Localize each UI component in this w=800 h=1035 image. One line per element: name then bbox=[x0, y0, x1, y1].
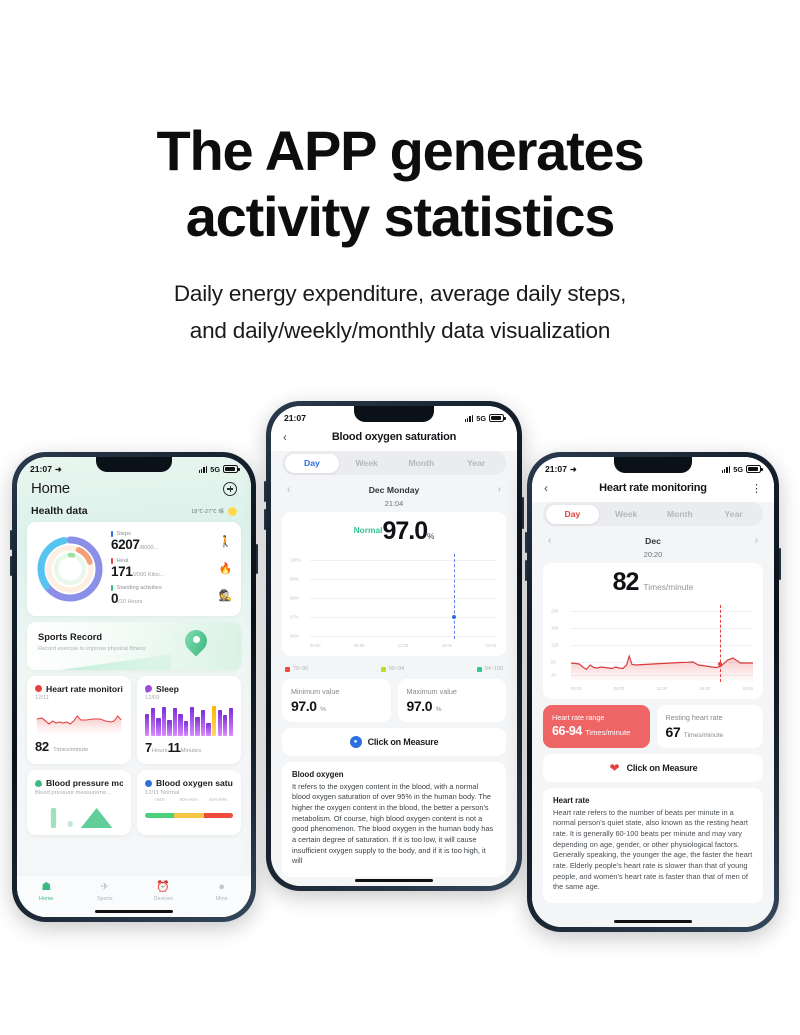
signal-bars-icon-2 bbox=[465, 415, 474, 422]
phone-mockup-home: 21:07 ➜ 5G Home Health data bbox=[12, 452, 256, 922]
network-label-2: 5G bbox=[476, 414, 486, 423]
notch-3 bbox=[614, 457, 692, 473]
hr-resting-unit: Times/minute bbox=[684, 732, 723, 739]
hr-next-date-button[interactable]: › bbox=[755, 535, 758, 546]
metric-standing: Standing activities 0/10 Hours 🕵 bbox=[111, 585, 233, 607]
metric-heat: Heat 171/2000 Kiloc... 🔥 bbox=[111, 558, 233, 580]
spo2-legend: 70~90 90~94 94~100 bbox=[271, 662, 517, 674]
heart-rate-card-date: 12/11 bbox=[35, 695, 123, 701]
hr-unit: Times/minute bbox=[53, 747, 88, 753]
weather-widget: 18℃-27℃ 晴 bbox=[191, 507, 237, 516]
hr-ytick-4: 40 bbox=[551, 673, 556, 678]
standing-unit: /10 Hours bbox=[118, 599, 142, 605]
spo2-label-1: 90%-94% bbox=[174, 797, 203, 802]
spo2-ytick-1: 99% bbox=[290, 577, 299, 582]
home-icon: ☗ bbox=[17, 881, 76, 894]
blood-pressure-card[interactable]: Blood pressure mor Blood pressure measur… bbox=[27, 770, 131, 835]
spo2-summary-cards: Minimum value 97.0 % Maximum value 97.0 … bbox=[282, 679, 506, 722]
hr-resting-number: 67 bbox=[666, 724, 681, 740]
spo2-period-segmented-control[interactable]: Day Week Month Year bbox=[282, 451, 506, 475]
spo2-ytick-3: 97% bbox=[290, 615, 299, 620]
spo2-label-2: 94%-99% bbox=[204, 797, 233, 802]
tab-home-label: Home bbox=[17, 896, 76, 902]
segment-year[interactable]: Year bbox=[449, 454, 504, 473]
walking-person-icon: 🚶 bbox=[218, 535, 233, 548]
steps-number: 6207 bbox=[111, 537, 139, 552]
home-header: Home bbox=[17, 476, 251, 499]
spo2-max-label: Maximum value bbox=[407, 687, 498, 697]
tab-devices[interactable]: ⏰ Devices bbox=[134, 881, 193, 902]
spo2-chart[interactable]: 100% 99% 98% 97% 96% 00:00 06:00 12:00 1… bbox=[290, 552, 498, 648]
hr-prev-date-button[interactable]: ‹ bbox=[548, 535, 551, 546]
chevron-left-icon[interactable]: ‹ bbox=[283, 430, 297, 444]
headline-line-1: The APP generates bbox=[0, 118, 800, 184]
hr-data-point[interactable] bbox=[718, 662, 722, 666]
sleep-card-value: 7Hours11Minutes bbox=[145, 739, 233, 757]
spo2-x-axis: 00:00 06:00 12:00 18:00 24:00 bbox=[310, 643, 496, 648]
battery-icon bbox=[223, 465, 238, 473]
droplet-icon bbox=[35, 780, 42, 787]
hr-xtick-1: 06:00 bbox=[614, 686, 624, 691]
volume-up-button-3[interactable] bbox=[525, 532, 527, 553]
legend-label-2: 94~100 bbox=[485, 666, 503, 672]
spo2-status-text: Normal bbox=[354, 525, 383, 535]
legend-item-1: 90~94 bbox=[381, 666, 404, 672]
hr-range-number: 66-94 bbox=[552, 724, 582, 738]
legend-item-2: 94~100 bbox=[477, 666, 503, 672]
tab-sports-label: Sports bbox=[76, 896, 135, 902]
hr-resting-card: Resting heart rate 67 Times/minute bbox=[657, 705, 764, 748]
heart-rate-card[interactable]: Heart rate monitorin 12/11 bbox=[27, 676, 131, 765]
hr-reading: 82Times/minute bbox=[551, 567, 755, 601]
hr-info-card: Heart rate Heart rate refers to the numb… bbox=[543, 788, 763, 903]
sports-record-title: Sports Record bbox=[38, 632, 102, 642]
standing-value: 0/10 Hours bbox=[111, 591, 218, 607]
hero-section: The APP generates activity statistics Da… bbox=[0, 118, 800, 349]
spo2-info-text: It refers to the oxygen content in the b… bbox=[292, 782, 496, 867]
sleep-hours: 7 bbox=[145, 740, 152, 755]
notch bbox=[96, 457, 172, 472]
hr-x-axis: 00:00 06:00 12:00 18:00 24:00 bbox=[571, 686, 753, 691]
hr-chart-card: 82Times/minute 200 160 120 80 40 bbox=[543, 563, 763, 699]
status-time-3: 21:07 bbox=[545, 464, 567, 474]
tab-sports[interactable]: ✈ Sports bbox=[76, 881, 135, 902]
moon-icon bbox=[144, 684, 153, 693]
spo2-min-number: 97.0 bbox=[291, 698, 317, 714]
spo2-measure-label: Click on Measure bbox=[368, 737, 439, 747]
segment-month[interactable]: Month bbox=[394, 454, 449, 473]
spo2-range-bar bbox=[145, 813, 233, 818]
spo2-xtick-3: 18:00 bbox=[442, 643, 452, 648]
hr-date-label: Dec bbox=[645, 536, 661, 546]
promo-page: The APP generates activity statistics Da… bbox=[0, 0, 800, 1035]
sleep-card-date: 12/09 bbox=[145, 695, 233, 701]
spo2-date-label: Dec Monday bbox=[369, 485, 420, 495]
hr-info-text: Heart rate refers to the number of beats… bbox=[553, 808, 753, 893]
tab-mine[interactable]: ● Mine bbox=[193, 881, 252, 902]
power-button-3[interactable] bbox=[779, 548, 781, 580]
hr-segment-week[interactable]: Week bbox=[599, 505, 653, 524]
heart-icon-measure: ❤ bbox=[609, 762, 621, 774]
spo2-reading: Normal97.0% bbox=[290, 516, 498, 550]
spo2-min-unit: % bbox=[320, 706, 326, 713]
spo2-range-labels: <94% 90%-94% 94%-99% bbox=[145, 797, 233, 802]
spo2-navbar: ‹ Blood oxygen saturation bbox=[271, 425, 517, 451]
heat-number: 171 bbox=[111, 564, 132, 579]
hr-series-area bbox=[571, 603, 753, 682]
sports-record-subtitle: Record exercise to improve physical fitn… bbox=[38, 646, 146, 652]
spo2-data-point[interactable] bbox=[452, 615, 456, 619]
steps-value: 6207/8000... bbox=[111, 537, 218, 553]
hr-xtick-0: 00:00 bbox=[571, 686, 581, 691]
signal-bars-icon-3 bbox=[722, 466, 731, 473]
page-title: The APP generates activity statistics bbox=[0, 118, 800, 250]
network-label: 5G bbox=[210, 465, 220, 474]
hr-xtick-3: 18:00 bbox=[700, 686, 710, 691]
notch-2 bbox=[354, 406, 434, 422]
home-title: Home bbox=[31, 480, 70, 497]
sleep-minutes-unit: Minutes bbox=[181, 748, 202, 754]
metric-steps: Steps 6207/8000... 🚶 bbox=[111, 531, 233, 553]
heat-unit: /2000 Kiloc... bbox=[132, 572, 164, 578]
battery-icon-2 bbox=[489, 414, 504, 422]
hr-xtick-4: 24:00 bbox=[743, 686, 753, 691]
activity-rings-card[interactable]: Steps 6207/8000... 🚶 bbox=[27, 522, 241, 616]
hr-segment-day[interactable]: Day bbox=[546, 505, 600, 524]
tab-home[interactable]: ☗ Home bbox=[17, 881, 76, 902]
spo2-value: 97.0 bbox=[382, 517, 427, 545]
spo2-xtick-0: 00:00 bbox=[310, 643, 320, 648]
hr-chart[interactable]: 200 160 120 80 40 bbox=[551, 603, 755, 691]
hr-resting-label: Resting heart rate bbox=[666, 713, 755, 723]
standing-person-icon: 🕵 bbox=[218, 589, 233, 602]
spo2-ytick-0: 100% bbox=[290, 558, 301, 563]
sports-record-card[interactable]: Sports Record Record exercise to improve… bbox=[27, 622, 241, 670]
blood-oxygen-card[interactable]: Blood oxygen satur 12/11 Normal <94% 90%… bbox=[137, 770, 241, 835]
sports-shoe-icon: ✈ bbox=[76, 881, 135, 894]
spo2-icon: ● bbox=[350, 736, 362, 748]
hr-segment-month[interactable]: Month bbox=[653, 505, 707, 524]
subtitle-line-2: and daily/weekly/monthly data visualizat… bbox=[0, 313, 800, 349]
hr-range-unit: Times/minute bbox=[585, 728, 630, 737]
spo2-cursor-line bbox=[454, 554, 455, 639]
spo2-ytick-4: 96% bbox=[290, 634, 299, 639]
weather-text: 18℃-27℃ 晴 bbox=[191, 507, 224, 515]
status-time-2: 21:07 bbox=[284, 413, 306, 423]
spo2-ytick-2: 98% bbox=[290, 596, 299, 601]
legend-item-0: 70~90 bbox=[285, 666, 308, 672]
hr-xtick-2: 12:00 bbox=[657, 686, 667, 691]
volume-down-button-2[interactable] bbox=[264, 509, 266, 530]
spo2-min-value: 97.0 % bbox=[291, 698, 382, 714]
person-icon: ● bbox=[193, 881, 252, 894]
sleep-bar-chart bbox=[145, 706, 233, 736]
volume-down-button-3[interactable] bbox=[525, 560, 527, 581]
phone-mockup-heart-rate: 21:07 ➜ 5G ‹ Heart rate monitoring ⋮ Da bbox=[527, 452, 779, 932]
location-arrow-icon-3: ➜ bbox=[570, 465, 577, 474]
metric-cards-row-2: Blood pressure mor Blood pressure measur… bbox=[27, 770, 241, 835]
hr-resting-value: 67 Times/minute bbox=[666, 724, 755, 740]
flame-icon: 🔥 bbox=[218, 562, 233, 575]
spo2-nav-title: Blood oxygen saturation bbox=[297, 431, 491, 443]
heat-value: 171/2000 Kiloc... bbox=[111, 564, 218, 580]
spo2-maximum-card: Maximum value 97.0 % bbox=[398, 679, 507, 722]
activity-rings-chart bbox=[33, 532, 107, 606]
heart-rate-card-value: 82 Times/minute bbox=[35, 738, 123, 756]
hr-summary-cards: Heart rate range 66-94 Times/minute Rest… bbox=[543, 705, 763, 748]
spo2-measure-button[interactable]: ● Click on Measure bbox=[282, 728, 506, 756]
watch-icon: ⏰ bbox=[134, 881, 193, 894]
circle-icon bbox=[145, 780, 152, 787]
home-indicator-3 bbox=[614, 920, 692, 924]
hr-measure-button[interactable]: ❤ Click on Measure bbox=[543, 754, 763, 782]
heart-rate-card-title: Heart rate monitorin bbox=[46, 684, 123, 694]
legend-label-0: 70~90 bbox=[293, 666, 308, 672]
phone-mockup-spo2: 21:07 5G ‹ Blood oxygen saturation Day W bbox=[266, 401, 522, 891]
hr-ytick-1: 160 bbox=[551, 626, 558, 631]
hr-period-segmented-control[interactable]: Day Week Month Year bbox=[543, 502, 763, 526]
network-label-3: 5G bbox=[733, 465, 743, 474]
spo2-info-card: Blood oxygen It refers to the oxygen con… bbox=[282, 762, 506, 877]
volume-up-button[interactable] bbox=[10, 530, 12, 550]
segment-day[interactable]: Day bbox=[285, 454, 340, 473]
spo2-screen: 21:07 5G ‹ Blood oxygen saturation Day W bbox=[271, 406, 517, 886]
status-time: 21:07 bbox=[30, 464, 52, 474]
hr-unit: Times/minute bbox=[643, 582, 693, 592]
sleep-minutes: 11 bbox=[168, 740, 181, 755]
tab-devices-label: Devices bbox=[134, 896, 193, 902]
headline-line-2: activity statistics bbox=[0, 184, 800, 250]
plus-circle-icon[interactable] bbox=[223, 482, 237, 496]
kebab-menu-icon[interactable]: ⋮ bbox=[748, 482, 762, 495]
heart-rate-screen: 21:07 ➜ 5G ‹ Heart rate monitoring ⋮ Da bbox=[532, 457, 774, 927]
spo2-min-label: Minimum value bbox=[291, 687, 382, 697]
spo2-xtick-1: 06:00 bbox=[354, 643, 364, 648]
spo2-card-title: Blood oxygen satur bbox=[156, 778, 233, 788]
hr-date-navigator: ‹ Dec › bbox=[532, 526, 774, 547]
hr-number: 82 bbox=[35, 739, 49, 754]
subtitle-line-1: Daily energy expenditure, average daily … bbox=[0, 276, 800, 312]
hr-ytick-0: 200 bbox=[551, 609, 558, 614]
heart-rate-sparkline bbox=[35, 708, 123, 734]
signal-bars-icon bbox=[199, 466, 208, 473]
tab-mine-label: Mine bbox=[193, 896, 252, 902]
spo2-xtick-2: 12:00 bbox=[398, 643, 408, 648]
prev-date-button[interactable]: ‹ bbox=[287, 484, 290, 495]
hero-subtitle: Daily energy expenditure, average daily … bbox=[0, 276, 800, 349]
spo2-label-0: <94% bbox=[145, 797, 174, 802]
legend-label-1: 90~94 bbox=[389, 666, 404, 672]
battery-icon-3 bbox=[746, 465, 761, 473]
chevron-left-icon-3[interactable]: ‹ bbox=[544, 481, 558, 495]
hr-value: 82 bbox=[613, 568, 639, 596]
power-button[interactable] bbox=[256, 544, 258, 574]
spo2-minimum-card: Minimum value 97.0 % bbox=[282, 679, 391, 722]
decorative-wave bbox=[27, 650, 171, 670]
hr-navbar: ‹ Heart rate monitoring ⋮ bbox=[532, 476, 774, 502]
hr-time-label: 20:20 bbox=[532, 547, 774, 559]
hr-range-card: Heart rate range 66-94 Times/minute bbox=[543, 705, 650, 748]
home-indicator bbox=[95, 910, 173, 914]
sleep-hours-unit: Hours bbox=[152, 748, 168, 754]
spo2-time-label: 21:04 bbox=[271, 496, 517, 508]
spo2-max-unit: % bbox=[436, 706, 442, 713]
hr-ytick-3: 80 bbox=[551, 660, 556, 665]
hr-cursor-line bbox=[720, 605, 721, 682]
volume-down-button[interactable] bbox=[10, 556, 12, 576]
spo2-unit: % bbox=[427, 532, 434, 541]
spo2-chart-card: Normal97.0% 100% 99% 98% 97% 96% 00:00 0… bbox=[282, 512, 506, 656]
spo2-xtick-4: 24:00 bbox=[486, 643, 496, 648]
sleep-card[interactable]: Sleep 12/09 7Hours11Minutes bbox=[137, 676, 241, 765]
hr-range-label: Heart rate range bbox=[552, 713, 641, 723]
hr-nav-title: Heart rate monitoring bbox=[558, 482, 748, 494]
power-button-2[interactable] bbox=[522, 497, 524, 529]
hr-measure-label: Click on Measure bbox=[627, 763, 698, 773]
map-pin-icon bbox=[185, 630, 207, 658]
next-date-button[interactable]: › bbox=[498, 484, 501, 495]
volume-up-button-2[interactable] bbox=[264, 481, 266, 502]
steps-unit: /8000... bbox=[139, 545, 158, 551]
hr-range-value: 66-94 Times/minute bbox=[552, 724, 641, 738]
home-indicator-2 bbox=[355, 879, 433, 883]
bp-card-title: Blood pressure mor bbox=[46, 778, 123, 788]
segment-week[interactable]: Week bbox=[339, 454, 394, 473]
spo2-max-number: 97.0 bbox=[407, 698, 433, 714]
spo2-card-date: 12/11 Normal bbox=[145, 790, 233, 796]
hr-ytick-2: 120 bbox=[551, 643, 558, 648]
sun-icon bbox=[228, 507, 237, 516]
spo2-date-navigator: ‹ Dec Monday › bbox=[271, 475, 517, 496]
home-screen: 21:07 ➜ 5G Home Health data bbox=[17, 457, 251, 917]
spo2-max-value: 97.0 % bbox=[407, 698, 498, 714]
hr-info-title: Heart rate bbox=[553, 796, 753, 805]
bp-illustration bbox=[35, 802, 123, 828]
metric-cards-row-1: Heart rate monitorin 12/11 bbox=[27, 676, 241, 765]
bp-card-subtitle: Blood pressure measureme... bbox=[35, 790, 123, 796]
sleep-card-title: Sleep bbox=[156, 684, 179, 694]
hr-segment-year[interactable]: Year bbox=[707, 505, 761, 524]
heart-icon bbox=[35, 685, 42, 692]
health-data-section-header: Health data 18℃-27℃ 晴 bbox=[17, 499, 251, 522]
location-arrow-icon: ➜ bbox=[55, 465, 62, 474]
spo2-info-title: Blood oxygen bbox=[292, 770, 496, 779]
health-data-label: Health data bbox=[31, 505, 88, 517]
